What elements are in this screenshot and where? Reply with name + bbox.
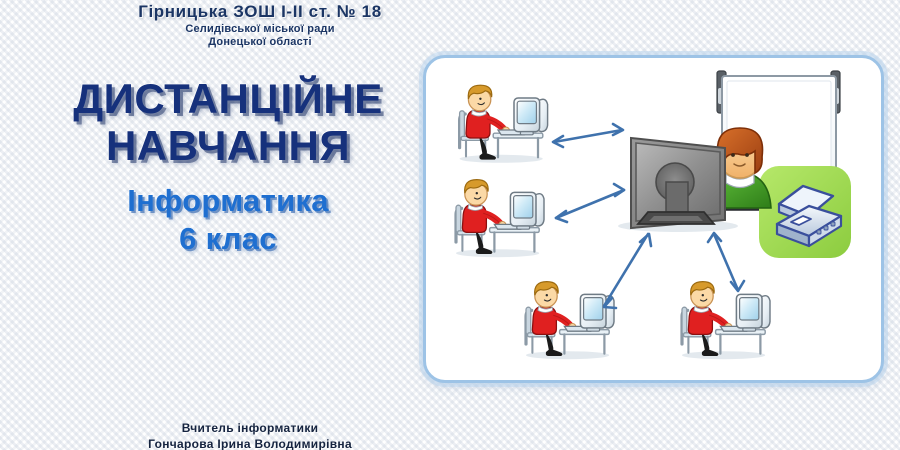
scanner-tile	[759, 166, 851, 258]
title-block: ДИСТАНЦІЙНЕ НАВЧАННЯ Інформатика 6 клас	[8, 78, 448, 256]
school-city-council: Селидівської міської ради	[0, 23, 520, 35]
arrow-server-to-student-top-left	[553, 124, 623, 147]
teacher-footer: Вчитель інформатики Гончарова Ірина Воло…	[0, 420, 500, 450]
school-name: Гірницька ЗОШ I-II ст. № 18	[0, 2, 520, 22]
arrow-server-to-student-bottom-left	[604, 234, 651, 308]
student-middle-left	[456, 180, 544, 258]
slide-grade: 6 клас	[8, 222, 448, 255]
school-header: Гірницька ЗОШ I-II ст. № 18 Селидівської…	[0, 2, 520, 48]
illustration-panel: Схема дистанційного навчання: учні за ко…	[423, 55, 884, 383]
slide-subject: Інформатика	[8, 184, 448, 217]
central-teacher-workstation	[618, 128, 771, 232]
student-bottom-right	[682, 282, 770, 360]
arrow-server-to-student-middle-left	[556, 184, 624, 222]
student-bottom-left	[526, 282, 614, 360]
distance-learning-diagram: Схема дистанційного навчання: учні за ко…	[426, 58, 881, 380]
teacher-name: Гончарова Ірина Володимирівна	[0, 436, 500, 450]
slide-title-line-1: ДИСТАНЦІЙНЕ	[8, 78, 448, 121]
presentation-slide: Гірницька ЗОШ I-II ст. № 18 Селидівської…	[0, 0, 900, 450]
arrow-server-to-student-bottom-right	[708, 233, 744, 291]
server-monitor	[618, 138, 738, 232]
slide-title-line-2: НАВЧАННЯ	[8, 125, 448, 168]
student-top-left	[460, 85, 548, 163]
school-region: Донецької області	[0, 36, 520, 48]
teacher-role: Вчитель інформатики	[0, 420, 500, 436]
